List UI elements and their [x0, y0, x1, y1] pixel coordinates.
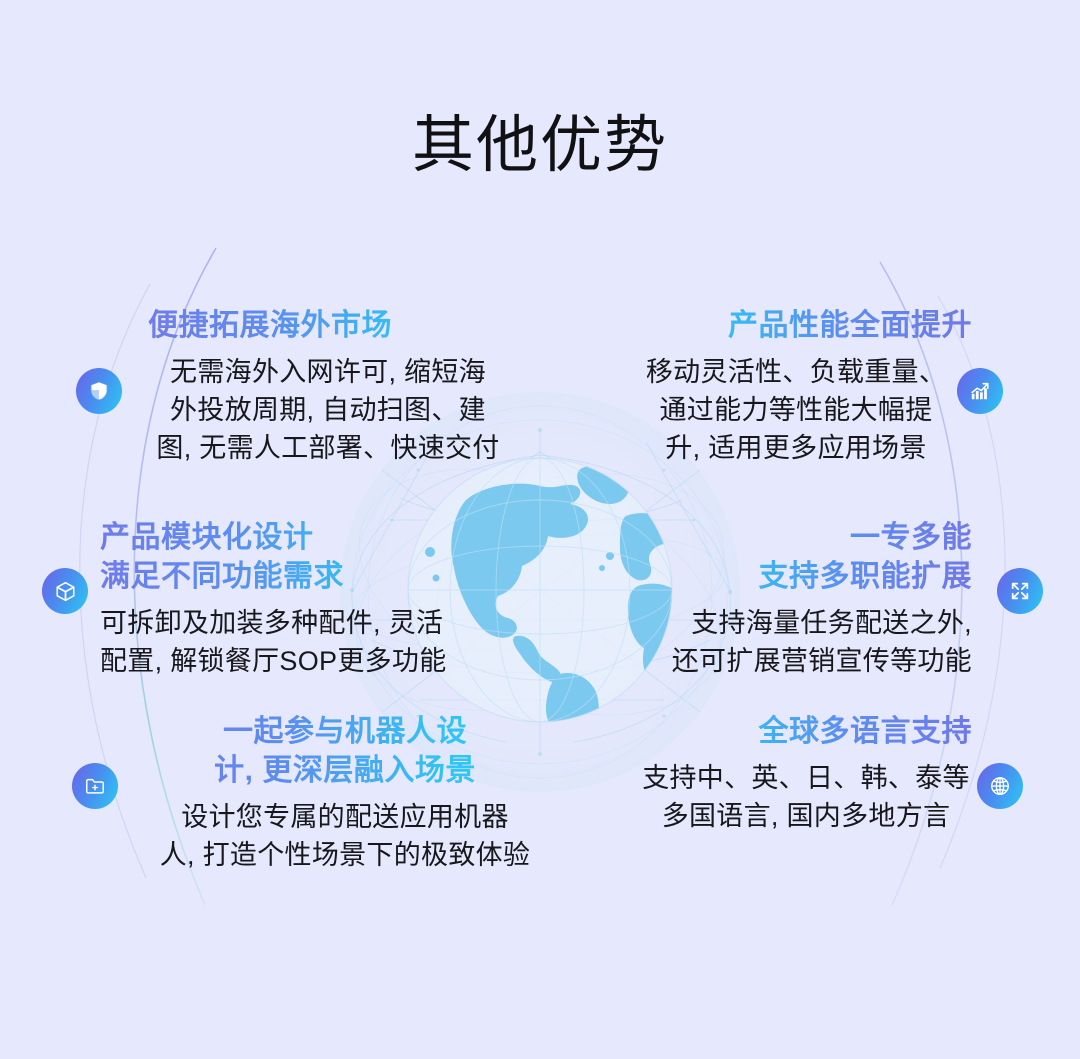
feature-modular-design: 产品模块化设计 满足不同功能需求 可拆卸及加装多种配件, 灵活 配置, 解锁餐厅…	[100, 518, 472, 680]
feature-multi-language: 全球多语言支持 支持中、英、日、韩、泰等 多国语言, 国内多地方言	[640, 712, 972, 835]
expand-arrows-icon-badge[interactable]	[997, 568, 1043, 614]
feature-co-design: 一起参与机器人设 计, 更深层融入场景 设计您专属的配送应用机器 人, 打造个性…	[146, 712, 544, 874]
feature-body: 无需海外入网许可, 缩短海 外投放周期, 自动扫图、建 图, 无需人工部署、快速…	[148, 353, 508, 467]
globe-grid-icon-badge[interactable]	[977, 763, 1023, 809]
feature-product-performance: 产品性能全面提升 移动灵活性、负载重量、 通过能力等性能大幅提 升, 适用更多应…	[620, 306, 972, 467]
cube-icon	[54, 580, 77, 603]
shield-icon-badge[interactable]	[76, 368, 122, 414]
folder-plus-icon	[84, 775, 106, 797]
feature-body: 可拆卸及加装多种配件, 灵活 配置, 解锁餐厅SOP更多功能	[100, 604, 472, 680]
feature-heading: 一起参与机器人设 计, 更深层融入场景	[146, 712, 544, 790]
feature-body: 设计您专属的配送应用机器 人, 打造个性场景下的极致体验	[146, 798, 544, 874]
shield-icon	[88, 380, 110, 402]
feature-multi-function: 一专多能 支持多职能扩展 支持海量任务配送之外, 还可扩展营销宣传等功能	[648, 518, 972, 680]
infographic-stage: 其他优势	[0, 0, 1080, 1059]
folder-plus-icon-badge[interactable]	[72, 763, 118, 809]
feature-heading: 产品性能全面提升	[620, 306, 972, 345]
feature-body: 支持中、英、日、韩、泰等 多国语言, 国内多地方言	[640, 759, 972, 835]
feature-heading: 产品模块化设计 满足不同功能需求	[100, 518, 472, 596]
globe-grid-icon	[989, 775, 1011, 797]
feature-heading: 全球多语言支持	[640, 712, 972, 751]
cube-icon-badge[interactable]	[42, 568, 88, 614]
feature-heading: 一专多能 支持多职能扩展	[648, 518, 972, 596]
expand-arrows-icon	[1009, 580, 1031, 602]
feature-body: 移动灵活性、负载重量、 通过能力等性能大幅提 升, 适用更多应用场景	[620, 353, 972, 467]
feature-body: 支持海量任务配送之外, 还可扩展营销宣传等功能	[648, 604, 972, 680]
page-title: 其他优势	[0, 108, 1080, 184]
feature-heading: 便捷拓展海外市场	[148, 306, 508, 345]
feature-overseas-market: 便捷拓展海外市场 无需海外入网许可, 缩短海 外投放周期, 自动扫图、建 图, …	[148, 306, 508, 467]
chart-growth-icon	[969, 380, 991, 402]
